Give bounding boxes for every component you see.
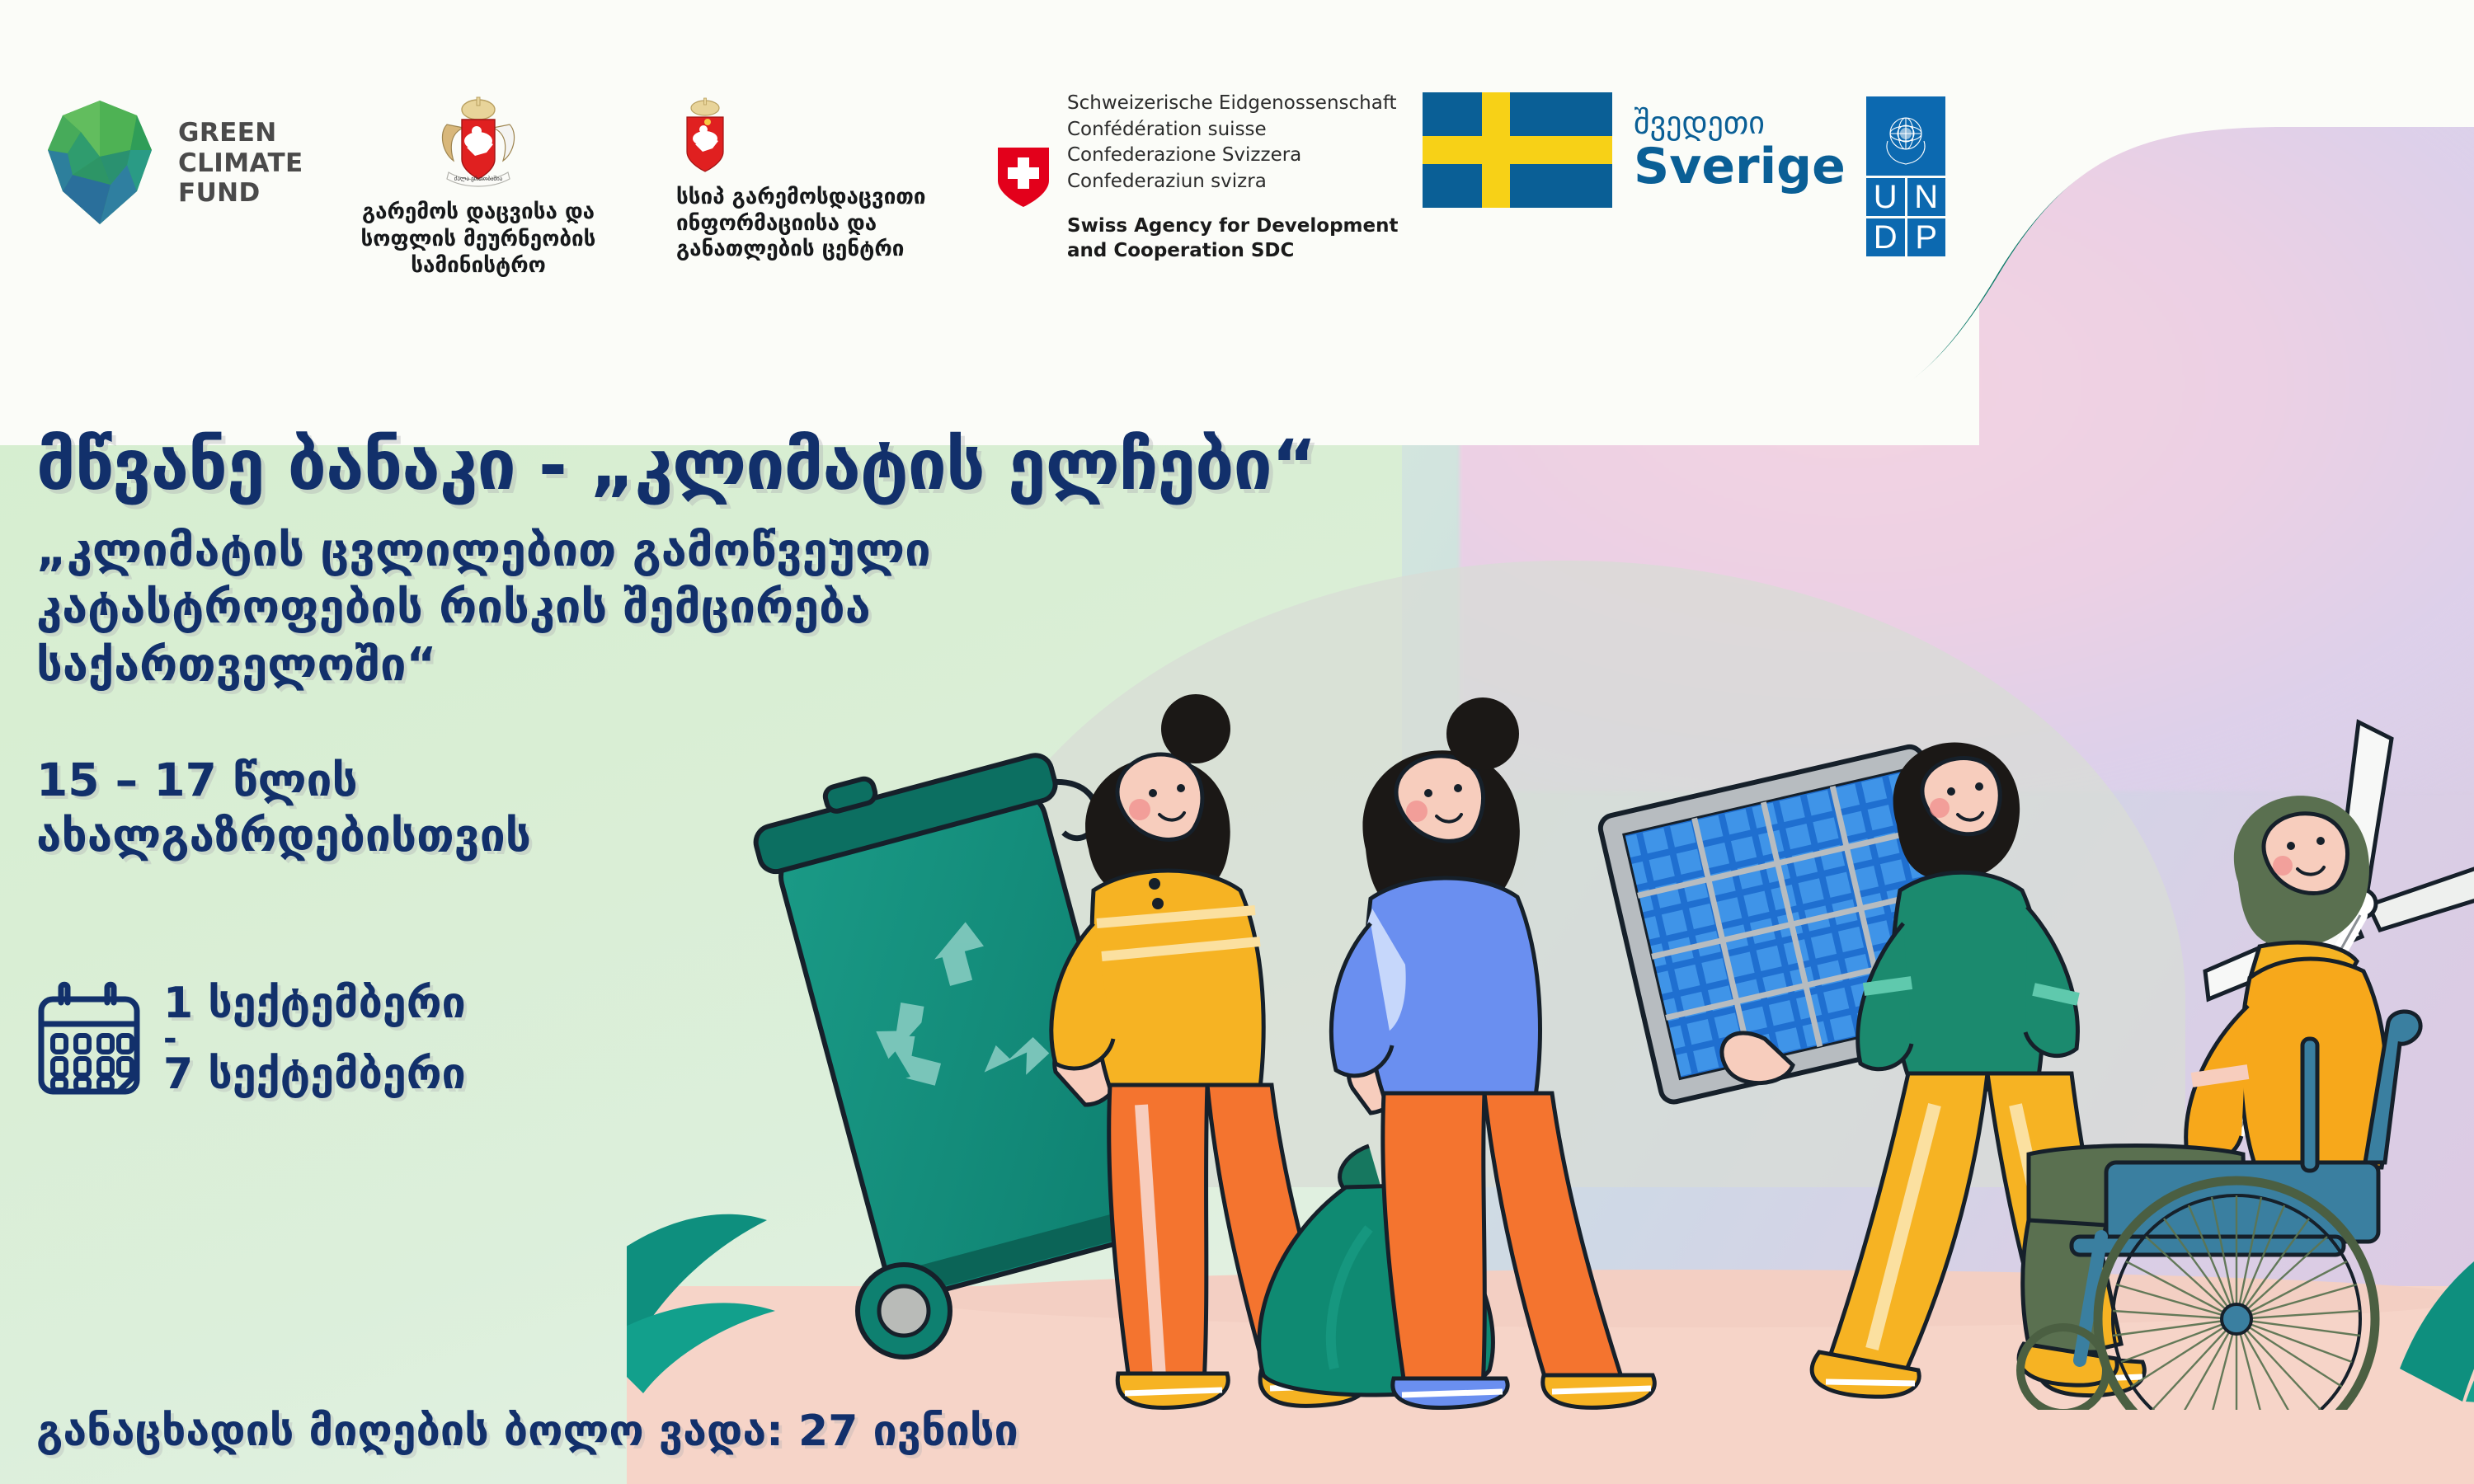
georgia-coat-of-arms-icon: ძალა ერთობაშია: [424, 95, 533, 192]
green-climate-fund-icon: [38, 99, 162, 228]
logo-green-climate-fund: GREEN CLIMATE FUND: [38, 99, 303, 228]
sweden-label-en: Sverige: [1634, 141, 1846, 193]
georgia-state-emblem-icon: [676, 97, 734, 176]
main-content: მწვანე ბანაკი - „კლიმატის ელჩები“ „კლიმა…: [36, 429, 1397, 1098]
gcf-line-3: FUND: [178, 178, 303, 209]
undp-wordmark: U N D P: [1866, 178, 1945, 256]
sweden-label-ka: შვედეთი: [1634, 107, 1846, 140]
logo-sweden: შვედეთი Sverige: [1423, 92, 1846, 208]
sdc-bold-line-2: and Cooperation SDC: [1067, 238, 1398, 263]
date-end: 7 სექტემბერი: [163, 1050, 466, 1098]
date-start: 1 სექტემბერი: [163, 979, 466, 1027]
subtitle-line-2: კატასტროფების რისკის შემცირება: [36, 579, 1397, 636]
green-climate-fund-wordmark: GREEN CLIMATE FUND: [178, 118, 303, 209]
logo-environmental-education-center: სსიპ გარემოსდაცვითი ინფორმაციისა და განა…: [676, 97, 957, 263]
age-requirement: 15 – 17 წლის ახალგაზრდებისთვის: [36, 753, 1397, 863]
page-subtitle: „კლიმატის ცვლილებით გამოწვეული კატასტროფ…: [36, 522, 1397, 693]
logo-swiss-sdc: Schweizerische Eidgenossenschaft Confédé…: [998, 91, 1398, 264]
logo-undp: U N D P: [1866, 96, 1945, 256]
logo-ministry-of-environment: ძალა ერთობაშია გარემოს დაცვისა და სოფლის…: [330, 95, 627, 279]
undp-letter-d: D: [1866, 218, 1905, 256]
poster-root: GREEN CLIMATE FUND: [0, 0, 2474, 1484]
grass-leaves-left: [627, 1214, 775, 1393]
grass-leaves-right: [2400, 1214, 2474, 1405]
age-line-1: 15 – 17 წლის: [36, 753, 1397, 808]
age-line-2: ახალგაზრდებისთვის: [36, 808, 1397, 863]
sdc-line-fr: Confédération suisse: [1067, 117, 1398, 143]
sdc-bold-line-1: Swiss Agency for Development: [1067, 214, 1398, 238]
subtitle-line-1: „კლიმატის ცვლილებით გამოწვეული: [36, 522, 1397, 579]
sdc-line-it: Confederazione Svizzera: [1067, 143, 1398, 169]
gcf-line-1: GREEN: [178, 118, 303, 148]
camp-dates: 1 სექტემბერი - 7 სექტემბერი: [163, 979, 466, 1098]
swiss-flag-shield-icon: [998, 148, 1049, 207]
gcf-line-2: CLIMATE: [178, 148, 303, 179]
sweden-flag-icon: [1423, 92, 1612, 208]
subtitle-line-3: საქართველოში“: [36, 636, 1397, 693]
un-emblem-icon: [1866, 96, 1945, 176]
sdc-line-rm: Confederaziun svizra: [1067, 169, 1398, 195]
page-title: მწვანე ბანაკი - „კლიმატის ელჩები“: [36, 429, 1397, 502]
ministry-label: გარემოს დაცვისა და სოფლის მეურნეობის სამ…: [330, 199, 627, 279]
logo-bar: GREEN CLIMATE FUND: [0, 0, 1979, 346]
undp-letter-p: P: [1907, 218, 1946, 256]
application-deadline: განაცხადის მიღების ბოლო ვადა: 27 ივნისი: [36, 1407, 1018, 1456]
date-dash: -: [163, 1027, 466, 1050]
eiec-label: სსიპ გარემოსდაცვითი ინფორმაციისა და განა…: [676, 185, 957, 263]
sdc-line-de: Schweizerische Eidgenossenschaft: [1067, 91, 1398, 117]
person-in-wheelchair: [2019, 796, 2420, 1410]
undp-letter-n: N: [1907, 178, 1946, 216]
date-row: 1 სექტემბერი - 7 სექტემბერი: [36, 979, 1397, 1098]
svg-text:ძალა ერთობაშია: ძალა ერთობაშია: [454, 175, 503, 182]
calendar-icon: [36, 981, 142, 1097]
undp-letter-u: U: [1866, 178, 1905, 216]
